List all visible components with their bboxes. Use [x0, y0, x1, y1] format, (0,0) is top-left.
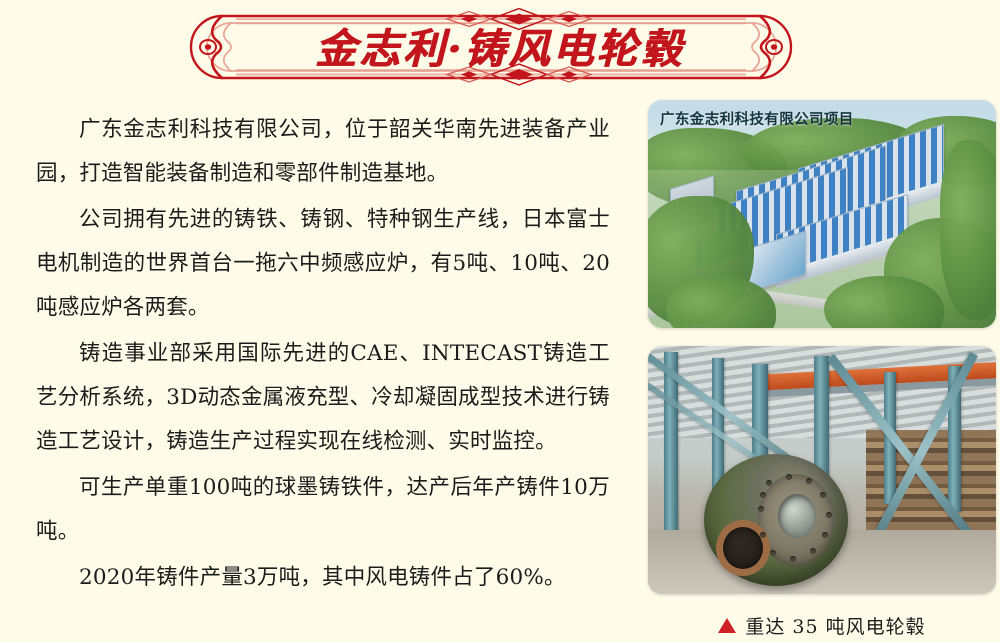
paragraph: 2020年铸件产量3万吨，其中风电铸件占了60%。: [36, 556, 610, 600]
bolt-hole: [786, 474, 792, 480]
bolt-hole: [810, 548, 816, 554]
triangle-marker-icon: [718, 618, 736, 633]
bolt-hole: [790, 556, 796, 562]
bolt-hole: [820, 492, 826, 498]
bolt-hole: [758, 506, 764, 512]
photo-caption-hub: 重达 35 吨风电轮毂: [648, 612, 996, 639]
photo-industrial-park: 广东金志利科技有限公司项目: [648, 100, 996, 328]
paragraph: 公司拥有先进的铸铁、铸钢、特种钢生产线，日本富士电机制造的世界首台一拖六中频感应…: [36, 198, 610, 330]
wind-turbine-hub-casting: [704, 454, 848, 586]
bolt-hole: [766, 480, 772, 486]
tree-cluster: [940, 140, 996, 320]
bolt-hole: [826, 512, 832, 518]
paragraph: 铸造事业部采用国际先进的CAE、INTECAST铸造工艺分析系统，3D动态金属液…: [36, 332, 610, 464]
photo-column: 广东金志利科技有限公司项目: [648, 100, 996, 594]
factory-interior-image: [648, 346, 996, 594]
paragraph: 广东金志利科技有限公司，位于韶关华南先进装备产业园，打造智能装备制造和零部件制造…: [36, 108, 610, 196]
page-title: 金志利·铸风电轮毂: [0, 12, 1000, 78]
bolt-hole: [770, 550, 776, 556]
photo-overlay-caption: 广东金志利科技有限公司项目: [660, 108, 854, 129]
bolt-hole: [806, 478, 812, 484]
bolt-hole: [822, 532, 828, 538]
aerial-rendering-image: [648, 100, 996, 328]
caption-text: 重达 35 吨风电轮毂: [745, 612, 925, 639]
photo-hub-casting: [648, 346, 996, 594]
title-banner: 金志利·铸风电轮毂: [0, 0, 1000, 96]
hub-opening: [778, 494, 816, 538]
paragraph: 可生产单重100吨的球墨铸铁件，达产后年产铸件10万吨。: [36, 466, 610, 554]
hub-bore-opening: [716, 520, 770, 576]
article-body: 广东金志利科技有限公司，位于韶关华南先进装备产业园，打造智能装备制造和零部件制造…: [36, 108, 610, 602]
bolt-hole: [760, 532, 766, 538]
bolt-hole: [760, 492, 766, 498]
